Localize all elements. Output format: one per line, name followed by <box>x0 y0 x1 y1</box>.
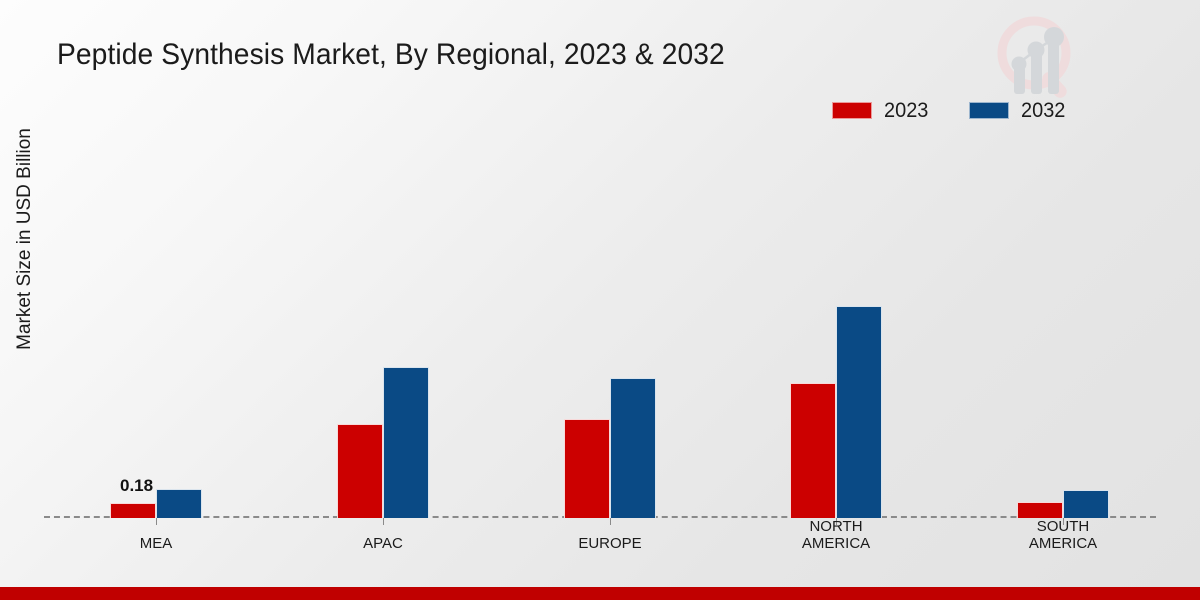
x-label-apac: APAC <box>363 535 403 552</box>
legend-swatch-2032-icon <box>969 102 1009 119</box>
bars-north-america <box>790 140 882 518</box>
bar-europe-2032[interactable] <box>610 378 656 518</box>
bar-europe-2023[interactable] <box>564 419 610 518</box>
bar-north-america-2032[interactable] <box>836 306 882 518</box>
bar-north-america-2023[interactable] <box>790 383 836 518</box>
bars-south-america <box>1017 140 1109 518</box>
bar-apac-2023[interactable] <box>337 424 383 518</box>
legend-item-2023[interactable]: 2023 <box>832 100 931 121</box>
legend-label-2032: 2032 <box>1021 100 1065 121</box>
chart-canvas: Peptide Synthesis Market, By Regional, 2… <box>0 0 1200 600</box>
legend-label-2023: 2023 <box>884 100 928 121</box>
x-label-europe: EUROPE <box>578 535 641 552</box>
bars-apac <box>337 140 429 518</box>
chart-title: Peptide Synthesis Market, By Regional, 2… <box>57 34 725 76</box>
x-label-mea: MEA <box>140 535 173 552</box>
y-axis-title: Market Size in USD Billion <box>14 74 36 404</box>
bar-mea-2023[interactable] <box>110 503 156 518</box>
legend-item-2032[interactable]: 2032 <box>969 100 1068 121</box>
footer-bar <box>0 587 1200 600</box>
bar-south-america-2032[interactable] <box>1063 490 1109 518</box>
bar-south-america-2023[interactable] <box>1017 502 1063 518</box>
x-tick-mea <box>156 518 157 525</box>
plot-area: 0.18 MEA APAC <box>44 140 1156 518</box>
legend-swatch-2023-icon <box>832 102 872 119</box>
x-tick-europe <box>610 518 611 525</box>
chart-legend: 2023 2032 <box>832 100 1067 121</box>
bars-mea <box>110 140 202 518</box>
bar-mea-2032[interactable] <box>156 489 202 518</box>
magnifier-bar-chart-logo-icon <box>986 8 1090 108</box>
x-tick-apac <box>383 518 384 525</box>
bar-apac-2032[interactable] <box>383 367 429 518</box>
x-label-north-america: NORTH AMERICA <box>802 518 870 552</box>
bars-europe <box>564 140 656 518</box>
x-label-south-america: SOUTH AMERICA <box>1029 518 1097 552</box>
